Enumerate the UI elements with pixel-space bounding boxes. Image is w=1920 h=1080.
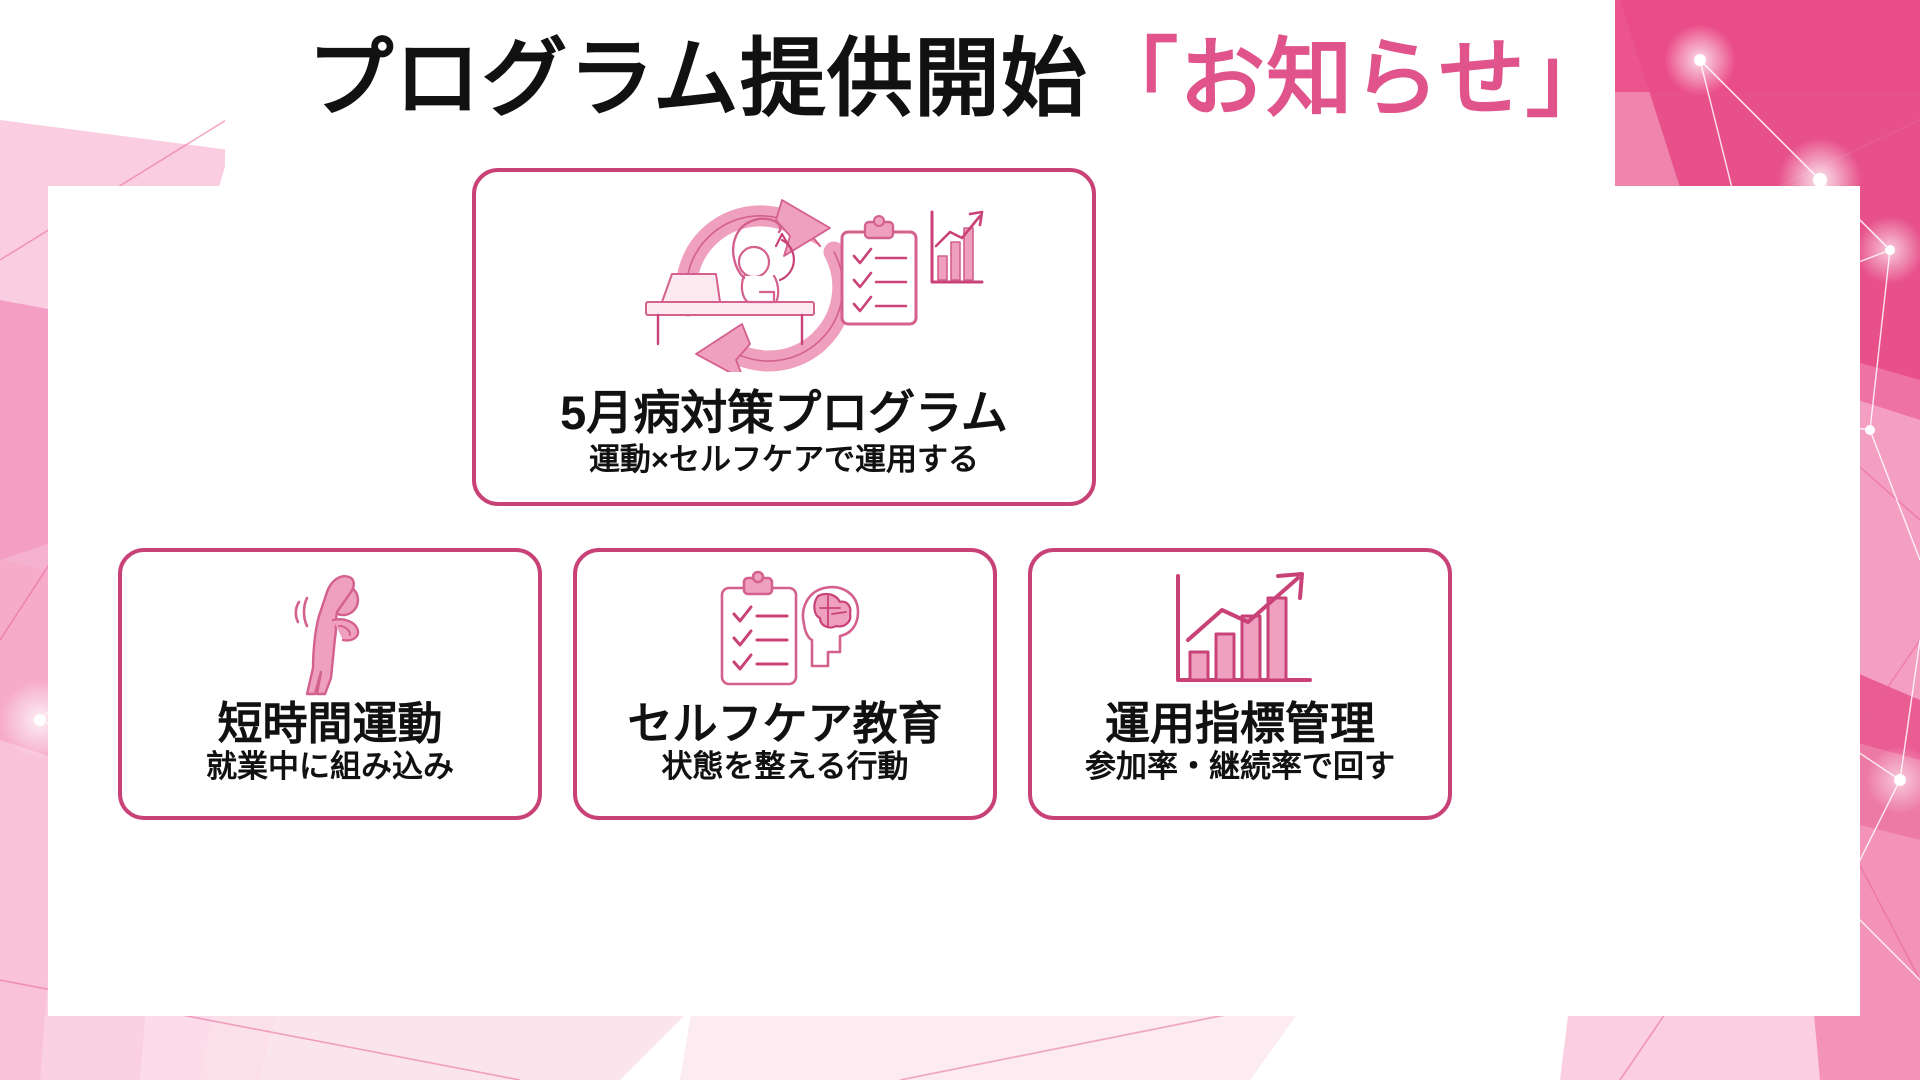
sub-card-subtitle: 状態を整える行動 — [661, 751, 908, 784]
cycle-stretch-desk-icon — [584, 194, 984, 372]
sub-card-title: 短時間運動 — [217, 700, 442, 748]
stretching-person-icon — [265, 568, 395, 696]
page-title: プログラム提供開始 「お知らせ」 — [0, 34, 1920, 124]
sub-card-short-exercise[interactable]: 短時間運動 就業中に組み込み — [118, 548, 542, 820]
main-card-title: 5月病対策プログラム — [560, 388, 1008, 437]
sub-card-metrics-management[interactable]: 運用指標管理 参加率・継続率で回す — [1028, 548, 1452, 820]
sub-card-subtitle: 就業中に組み込み — [206, 751, 454, 784]
sub-card-title: 運用指標管理 — [1105, 700, 1375, 748]
clipboard-brain-icon — [700, 568, 870, 696]
sub-card-title: セルフケア教育 — [627, 700, 942, 748]
sub-card-selfcare-education[interactable]: セルフケア教育 状態を整える行動 — [573, 548, 997, 820]
page-title-highlight: 「お知らせ」 — [1092, 31, 1612, 127]
page-title-main: プログラム提供開始 — [307, 31, 1087, 127]
main-program-card[interactable]: 5月病対策プログラム 運動×セルフケアで運用する — [472, 168, 1096, 506]
sub-card-subtitle: 参加率・継続率で回す — [1085, 751, 1395, 784]
bar-chart-growth-icon — [1160, 568, 1320, 696]
main-card-subtitle: 運動×セルフケアで運用する — [589, 444, 979, 477]
